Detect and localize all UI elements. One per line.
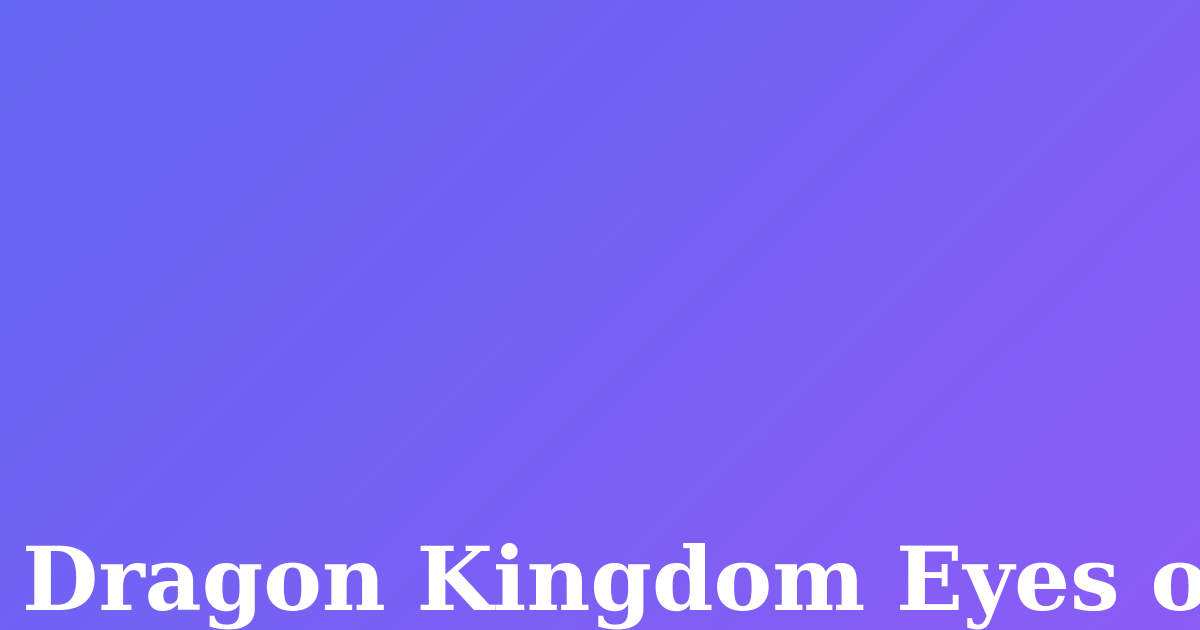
page-title: Dragon Kingdom Eyes of Fire (22, 531, 1200, 628)
og-preview-card: Dragon Kingdom Eyes of Fire Unknown RTP:… (0, 0, 1200, 630)
